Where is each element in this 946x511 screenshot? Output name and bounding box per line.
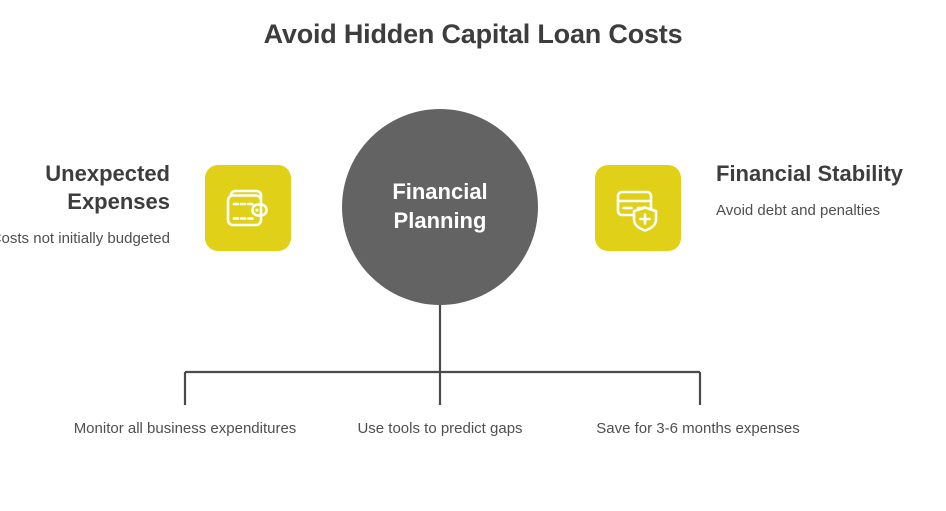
right-label-group: Financial Stability Avoid debt and penal…: [716, 160, 946, 222]
wallet-icon-tile[interactable]: [205, 165, 291, 251]
center-node[interactable]: Financial Planning: [342, 109, 538, 305]
bottom-item: Monitor all business expenditures: [70, 418, 300, 439]
left-heading: Unexpected Expenses: [0, 160, 170, 216]
right-subtext: Avoid debt and penalties: [716, 201, 946, 222]
page-title: Avoid Hidden Capital Loan Costs: [0, 19, 946, 50]
left-label-group: Unexpected Expenses Costs not initially …: [0, 160, 170, 250]
bottom-item: Use tools to predict gaps: [325, 418, 555, 439]
card-shield-icon-tile[interactable]: [595, 165, 681, 251]
center-node-label: Financial Planning: [392, 178, 487, 235]
right-heading: Financial Stability: [716, 160, 946, 188]
wallet-icon: [222, 182, 274, 234]
bottom-item: Save for 3-6 months expenses: [583, 418, 813, 439]
card-shield-icon: [612, 182, 664, 234]
left-subtext: Costs not initially budgeted: [0, 229, 170, 250]
